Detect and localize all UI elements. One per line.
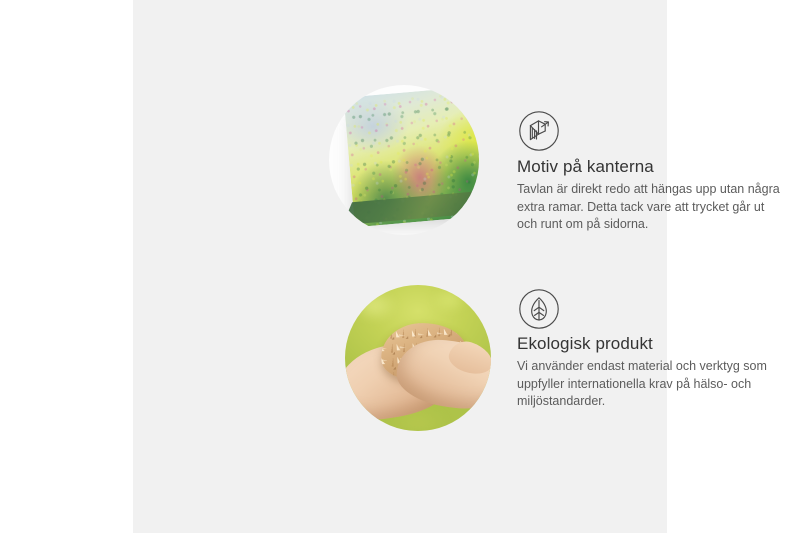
canvas-print-edges-photo	[329, 85, 479, 235]
canvas-edge-arrow-icon	[518, 110, 560, 152]
feature-title: Ekologisk produkt	[517, 334, 653, 354]
product-feature-infographic: Motiv på kanterna Tavlan är direkt redo …	[0, 0, 800, 533]
feature-description: Tavlan är direkt redo att hängas upp uta…	[517, 181, 787, 234]
feature-title: Motiv på kanterna	[517, 157, 654, 177]
hands-holding-wood-chips-photo	[345, 285, 491, 431]
leaf-icon	[518, 288, 560, 330]
feature-description: Vi använder endast material och verktyg …	[517, 358, 792, 411]
content-panel: Motiv på kanterna Tavlan är direkt redo …	[133, 0, 667, 533]
